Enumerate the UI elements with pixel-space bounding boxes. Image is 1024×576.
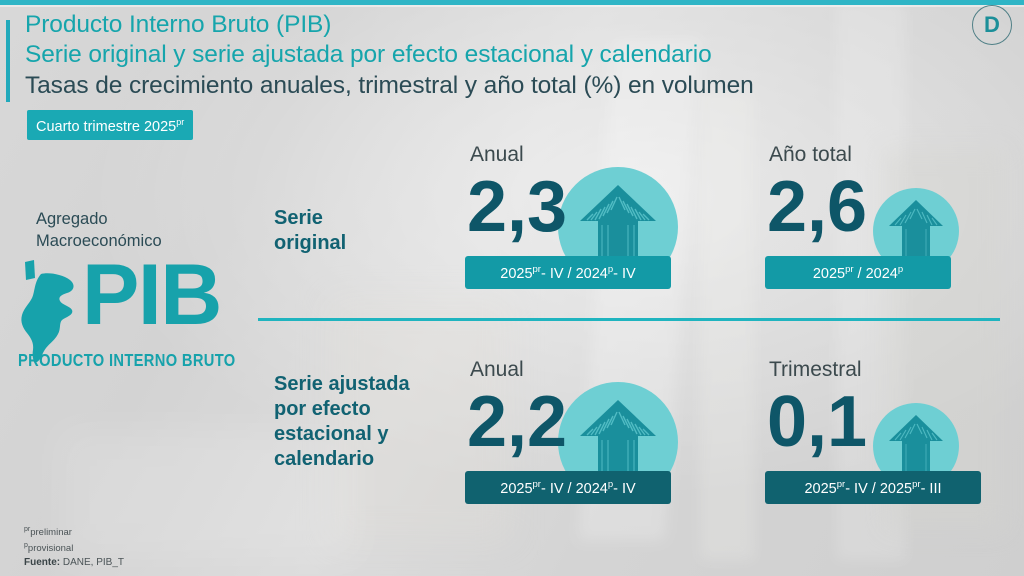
header-titles: Producto Interno Bruto (PIB) Serie origi… bbox=[25, 10, 925, 101]
pill-part: 2025 bbox=[813, 266, 845, 282]
footnote-preliminar: prpreliminar bbox=[24, 524, 124, 540]
footnotes: prpreliminar pprovisional Fuente: DANE, … bbox=[24, 524, 124, 569]
top-accent-bar-highlight bbox=[0, 5, 1024, 7]
source-value: DANE, PIB_T bbox=[63, 557, 124, 568]
footnote-text: provisional bbox=[28, 543, 73, 554]
pill-part: - III bbox=[921, 481, 942, 497]
pill-sup: pr bbox=[912, 479, 920, 490]
pill-part: - IV / 2025 bbox=[845, 481, 912, 497]
metric-title: Anual bbox=[470, 143, 524, 167]
pill-sup: pr bbox=[533, 479, 541, 490]
footnote-provisional: pprovisional bbox=[24, 540, 124, 556]
series-label-original: Serie original bbox=[274, 206, 346, 256]
metric-title: Anual bbox=[470, 358, 524, 382]
period-badge-label: Cuarto trimestre 2025 bbox=[36, 119, 176, 135]
aggregate-label-line1: Agregado bbox=[36, 208, 162, 230]
pill-part: 2025 bbox=[804, 481, 836, 497]
aggregate-label: Agregado Macroeconómico bbox=[36, 208, 162, 252]
pill-part: / 2024 bbox=[854, 266, 898, 282]
metric-period-pill: 2025pr- IV / 2024p- IV bbox=[465, 256, 671, 289]
footnote-source: Fuente: DANE, PIB_T bbox=[24, 557, 124, 570]
pill-part: - IV bbox=[613, 481, 636, 497]
metric-title: Año total bbox=[769, 143, 852, 167]
dane-logo-letter: D bbox=[984, 14, 1000, 36]
pill-part: 2025 bbox=[500, 481, 532, 497]
pib-logo: PIB PRODUCTO INTERNO BRUTO bbox=[10, 264, 250, 364]
metric-period-pill: 2025pr / 2024p bbox=[765, 256, 951, 289]
metric-value: 2,6 bbox=[767, 171, 867, 243]
period-badge-superscript: pr bbox=[176, 117, 184, 127]
metric-value: 2,3 bbox=[467, 171, 567, 243]
metric-title: Trimestral bbox=[769, 358, 862, 382]
metric-period-pill: 2025pr- IV / 2024p- IV bbox=[465, 471, 671, 504]
dane-logo: D bbox=[972, 5, 1012, 45]
pill-part: - IV / 2024 bbox=[541, 266, 608, 282]
pill-part: 2025 bbox=[500, 266, 532, 282]
footnote-text: preliminar bbox=[30, 527, 72, 538]
pib-logo-subtitle: PRODUCTO INTERNO BRUTO bbox=[18, 350, 236, 371]
series-label-line: original bbox=[274, 231, 346, 256]
series-label-line: calendario bbox=[274, 447, 410, 472]
row-divider bbox=[258, 318, 1000, 321]
page-subtitle-teal: Serie original y serie ajustada por efec… bbox=[25, 40, 925, 70]
title-accent-bar bbox=[6, 20, 10, 102]
background-texture bbox=[700, 90, 754, 560]
pill-part: - IV bbox=[613, 266, 636, 282]
page-subtitle-dark: Tasas de crecimiento anuales, trimestral… bbox=[25, 70, 925, 101]
period-badge: Cuarto trimestre 2025pr bbox=[27, 110, 193, 140]
pill-sup: pr bbox=[837, 479, 845, 490]
colombia-map-icon bbox=[14, 260, 86, 364]
page-title: Producto Interno Bruto (PIB) bbox=[25, 10, 925, 40]
slide-canvas: Producto Interno Bruto (PIB) Serie origi… bbox=[0, 0, 1024, 576]
metric-period-pill: 2025pr- IV / 2025pr- III bbox=[765, 471, 981, 504]
series-label-line: por efecto bbox=[274, 397, 410, 422]
series-label-line: estacional y bbox=[274, 422, 410, 447]
arrow-up-icon bbox=[887, 413, 945, 479]
pill-part: - IV / 2024 bbox=[541, 481, 608, 497]
metric-value: 0,1 bbox=[767, 386, 867, 458]
series-label-line: Serie ajustada bbox=[274, 372, 410, 397]
series-label-ajustada: Serie ajustada por efecto estacional y c… bbox=[274, 372, 410, 472]
pill-sup: pr bbox=[533, 264, 541, 275]
metric-value: 2,2 bbox=[467, 386, 567, 458]
pill-sup: pr bbox=[845, 264, 853, 275]
pill-sup: p bbox=[898, 264, 903, 275]
pib-logo-word: PIB bbox=[82, 252, 221, 338]
source-label: Fuente: bbox=[24, 557, 60, 568]
series-label-line: Serie bbox=[274, 206, 346, 231]
arrow-up-icon bbox=[887, 198, 945, 264]
